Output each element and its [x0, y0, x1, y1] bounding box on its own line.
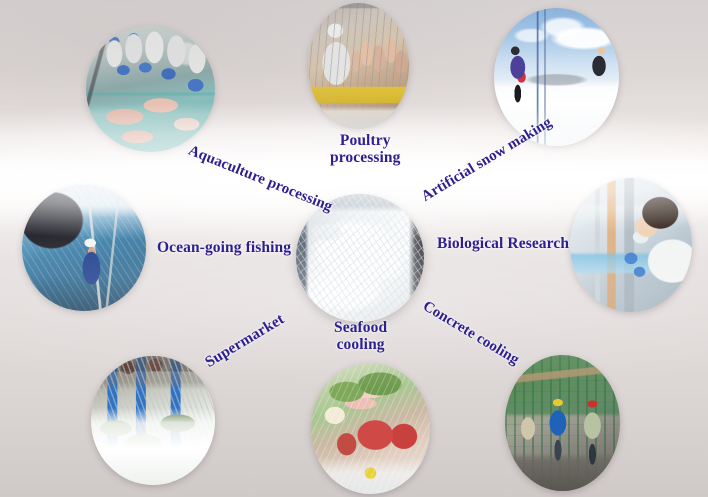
supermarket-image	[91, 356, 215, 485]
photo-flake-ice-center[interactable]	[296, 194, 424, 322]
label-supermarket: Supermarket	[203, 311, 288, 371]
seafood-cooling-image	[311, 363, 430, 494]
photo-biological-research[interactable]	[570, 178, 692, 312]
label-seafood-cooling: Seafood cooling	[334, 320, 387, 353]
poultry-processing-image	[308, 3, 409, 129]
photo-concrete-cooling[interactable]	[505, 355, 620, 491]
flake-ice-image	[296, 194, 424, 322]
photo-aquaculture-processing[interactable]	[86, 26, 215, 152]
label-artificial-snow-making: Artificial snow making	[419, 114, 555, 205]
label-poultry-line1: Poultry	[330, 133, 400, 150]
ocean-going-fishing-image	[22, 185, 146, 311]
label-seafood-line2: cooling	[334, 337, 387, 354]
photo-ocean-going-fishing[interactable]	[22, 185, 146, 311]
photo-supermarket[interactable]	[91, 356, 215, 485]
label-ocean-going-fishing: Ocean-going fishing	[157, 240, 291, 257]
artificial-snow-making-image	[494, 8, 619, 146]
photo-seafood-cooling[interactable]	[311, 363, 430, 494]
photo-poultry-processing[interactable]	[308, 3, 409, 129]
label-biological-research: Biological Research	[437, 236, 569, 253]
application-diagram: Aquaculture processing Poultry processin…	[0, 0, 708, 497]
label-poultry-processing: Poultry processing	[330, 133, 400, 166]
aquaculture-processing-image	[86, 26, 215, 152]
label-seafood-line1: Seafood	[334, 320, 387, 337]
photo-artificial-snow-making[interactable]	[494, 8, 619, 146]
concrete-cooling-image	[505, 355, 620, 491]
label-concrete-cooling: Concrete cooling	[420, 298, 522, 368]
label-aquaculture-processing: Aquaculture processing	[186, 143, 335, 216]
biological-research-image	[570, 178, 692, 312]
label-poultry-line2: processing	[330, 150, 400, 167]
